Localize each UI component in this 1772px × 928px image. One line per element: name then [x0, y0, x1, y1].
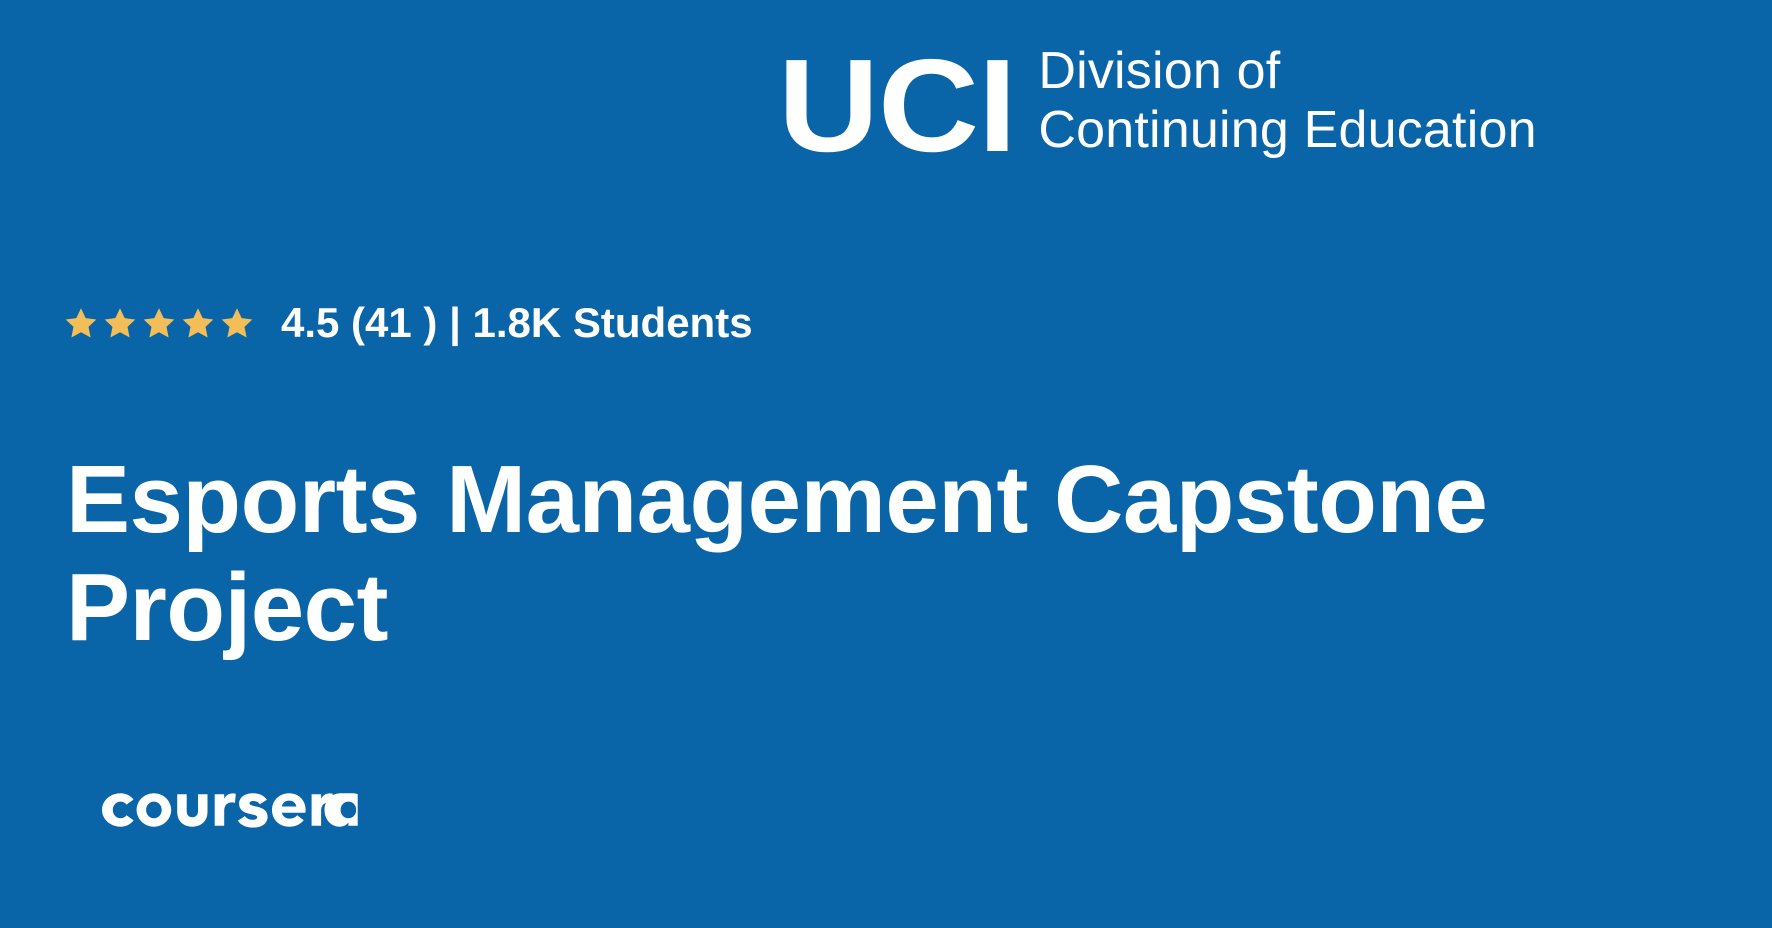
course-title: Esports Management Capstone Project: [66, 446, 1706, 661]
uci-subtitle-line-1: Division of: [1038, 42, 1536, 101]
course-title-line-1: Esports Management Capstone: [66, 446, 1706, 554]
rating-row: 4.5 (41 ) | 1.8K Students: [64, 300, 753, 346]
course-promo-card: UCI Division of Continuing Education: [0, 0, 1772, 928]
uci-wordmark: UCI: [778, 50, 1016, 162]
star-icon: [64, 306, 98, 340]
uci-subtitle: Division of Continuing Education: [1038, 42, 1536, 161]
course-title-line-2: Project: [66, 554, 1706, 662]
uci-subtitle-line-2: Continuing Education: [1038, 101, 1536, 160]
star-icon: [142, 306, 176, 340]
star-icon: [181, 306, 215, 340]
uci-logo: UCI Division of Continuing Education: [778, 36, 1537, 164]
star-icon: [103, 306, 137, 340]
rating-summary-text: 4.5 (41 ) | 1.8K Students: [281, 302, 753, 344]
coursera-logo: [96, 778, 358, 830]
star-icon: [220, 306, 254, 340]
